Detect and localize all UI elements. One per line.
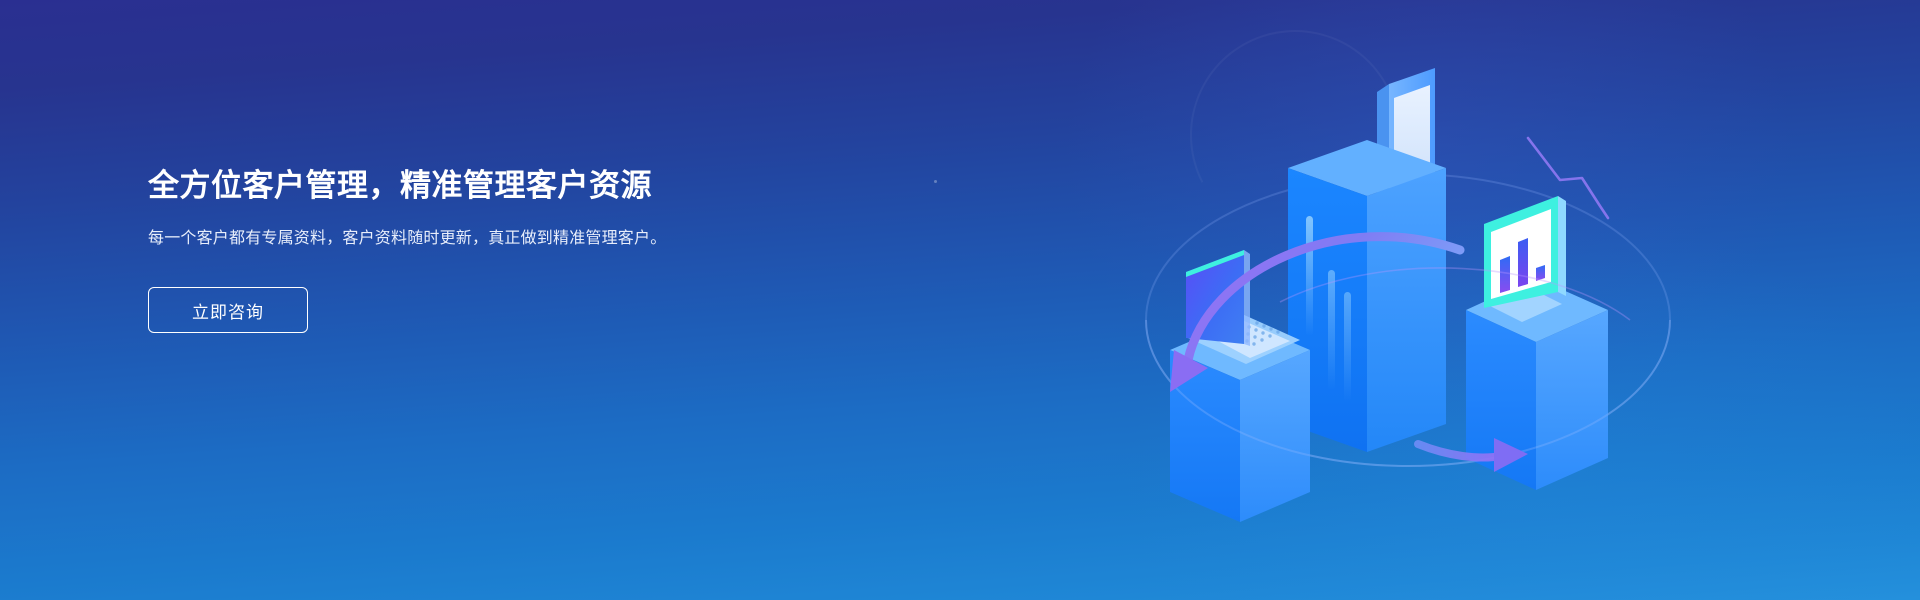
monitor-device [1484,196,1566,322]
background-dot-decoration [934,180,937,183]
page-title: 全方位客户管理，精准管理客户资源 [148,164,788,208]
center-pedestal [1288,68,1446,452]
center-bar-stripe-2 [1328,270,1335,390]
right-pedestal [1466,196,1608,490]
hero-subcopy: 每一个客户都有专属资料，客户资料随时更新，真正做到精准管理客户。 [148,226,748,251]
consult-now-button[interactable]: 立即咨询 [148,287,308,333]
center-bar-side [1367,168,1446,452]
hero-banner: 全方位客户管理，精准管理客户资源 每一个客户都有专属资料，客户资料随时更新，真正… [0,0,1920,600]
center-bar-stripe-1 [1306,216,1313,336]
center-bar-stripe-3 [1344,292,1351,402]
hero-illustration [1130,20,1690,580]
hero-copy-block: 全方位客户管理，精准管理客户资源 每一个客户都有专属资料，客户资料随时更新，真正… [148,164,788,333]
